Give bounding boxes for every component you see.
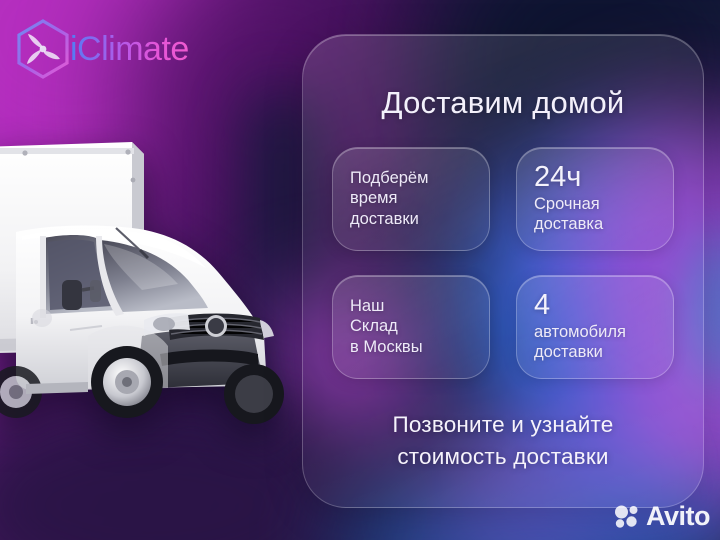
feature-grid: Подберём время доставки 24ч Срочная дост…: [332, 147, 674, 379]
feature-highlight: 4: [534, 290, 658, 320]
brand-name: iClimate: [70, 32, 189, 66]
feature-highlight: 24ч: [534, 162, 658, 192]
promo-banner: iClimate: [0, 0, 720, 540]
truck-illustration: [0, 140, 302, 430]
feature-pill[interactable]: Подберём время доставки: [332, 147, 490, 251]
avito-wordmark: Avito: [646, 503, 710, 530]
hexagon-turbine-icon: [14, 18, 72, 80]
feature-text: автомобиля доставки: [534, 322, 658, 363]
feature-text: Срочная доставка: [534, 194, 658, 235]
feature-text: Наш Склад в Москвы: [350, 296, 474, 358]
offer-card: Доставим домой Подберём время доставки 2…: [302, 34, 704, 508]
call-to-action: Позвоните и узнайте стоимость доставки: [392, 409, 613, 473]
feature-pill[interactable]: 4 автомобиля доставки: [516, 275, 674, 379]
feature-text: Подберём время доставки: [350, 168, 474, 230]
avito-watermark: Avito: [614, 503, 710, 530]
card-title: Доставим домой: [382, 85, 625, 121]
feature-pill[interactable]: Наш Склад в Москвы: [332, 275, 490, 379]
avito-dots-icon: [614, 505, 640, 529]
brand-logo[interactable]: iClimate: [14, 18, 189, 80]
feature-pill[interactable]: 24ч Срочная доставка: [516, 147, 674, 251]
